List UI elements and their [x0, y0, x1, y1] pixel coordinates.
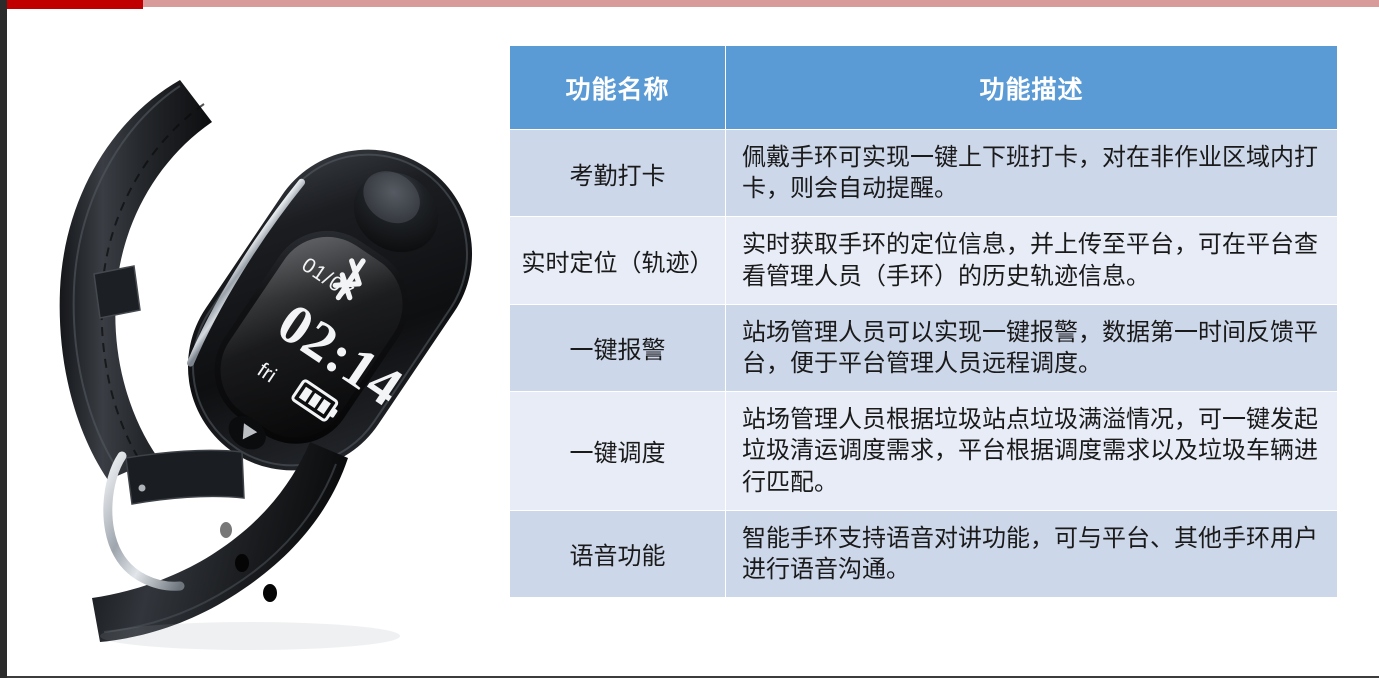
- smart-wristband-photo: 01/07 02:14 fri: [30, 60, 500, 650]
- feature-name: 语音功能: [510, 510, 726, 597]
- feature-description: 佩戴手环可实现一键上下班打卡，对在非作业区域内打卡，则会自动提醒。: [726, 130, 1338, 217]
- feature-table: 功能名称 功能描述 考勤打卡 佩戴手环可实现一键上下班打卡，对在非作业区域内打卡…: [509, 45, 1338, 598]
- device-drop-shadow: [100, 622, 400, 650]
- table-row: 实时定位（轨迹） 实时获取手环的定位信息，并上传至平台，可在平台查看管理人员（手…: [510, 217, 1338, 304]
- top-rule-accent-segment: [7, 0, 143, 9]
- slide-top-rule: [7, 0, 1379, 9]
- feature-name: 一键调度: [510, 392, 726, 511]
- feature-description: 智能手环支持语音对讲功能，可与平台、其他手环用户进行语音沟通。: [726, 510, 1338, 597]
- top-rule-light-segment: [143, 0, 1379, 7]
- feature-name: 考勤打卡: [510, 130, 726, 217]
- table-row: 语音功能 智能手环支持语音对讲功能，可与平台、其他手环用户进行语音沟通。: [510, 510, 1338, 597]
- column-header-function-description: 功能描述: [726, 46, 1338, 130]
- table-row: 一键调度 站场管理人员根据垃圾站点垃圾满溢情况，可一键发起垃圾清运调度需求，平台…: [510, 392, 1338, 511]
- slide-left-edge-bar: [0, 0, 7, 678]
- feature-description: 实时获取手环的定位信息，并上传至平台，可在平台查看管理人员（手环）的历史轨迹信息…: [726, 217, 1338, 304]
- table-row: 考勤打卡 佩戴手环可实现一键上下班打卡，对在非作业区域内打卡，则会自动提醒。: [510, 130, 1338, 217]
- slide-canvas: 01/07 02:14 fri: [0, 0, 1379, 678]
- table-row: 一键报警 站场管理人员可以实现一键报警，数据第一时间反馈平台，便于平台管理人员远…: [510, 304, 1338, 391]
- feature-name: 一键报警: [510, 304, 726, 391]
- strap-keeper-loop: [94, 266, 140, 318]
- feature-description: 站场管理人员可以实现一键报警，数据第一时间反馈平台，便于平台管理人员远程调度。: [726, 304, 1338, 391]
- table-header-row: 功能名称 功能描述: [510, 46, 1338, 130]
- strap-hole: [263, 584, 277, 602]
- strap-hole: [235, 554, 249, 572]
- feature-name: 实时定位（轨迹）: [510, 217, 726, 304]
- strap-hole: [220, 522, 232, 538]
- feature-description: 站场管理人员根据垃圾站点垃圾满溢情况，可一键发起垃圾清运调度需求，平台根据调度需…: [726, 392, 1338, 511]
- column-header-function-name: 功能名称: [510, 46, 726, 130]
